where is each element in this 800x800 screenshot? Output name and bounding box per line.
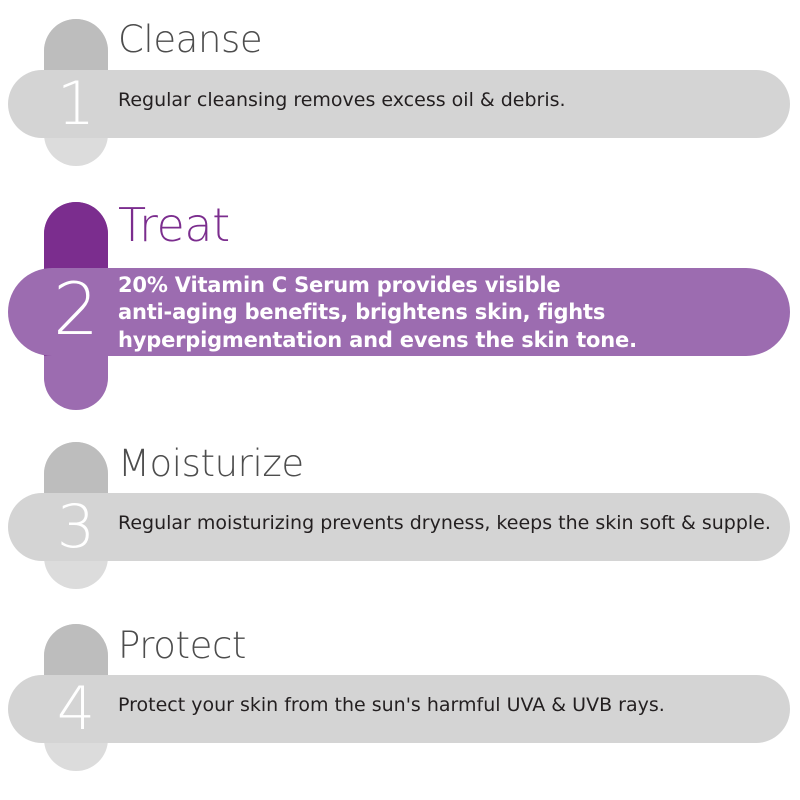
step-row-cleanse[interactable]: 1 Cleanse Regular cleansing removes exce… (0, 0, 800, 190)
step-title-protect: Protect (118, 624, 246, 667)
skincare-routine-infographic: 1 Cleanse Regular cleansing removes exce… (0, 0, 800, 800)
step-row-protect[interactable]: 4 Protect Protect your skin from the sun… (0, 612, 800, 797)
step-description-treat: 20% Vitamin C Serum provides visible ant… (118, 272, 776, 354)
step-number-pill-top-protect (44, 624, 108, 679)
step-number-moisturize: 3 (44, 497, 108, 557)
step-description-cleanse: Regular cleansing removes excess oil & d… (118, 88, 776, 112)
step-description-protect: Protect your skin from the sun's harmful… (118, 693, 776, 717)
step-number-cleanse: 1 (44, 74, 108, 134)
step-row-treat[interactable]: 2 Treat 20% Vitamin C Serum provides vis… (0, 190, 800, 430)
step-row-moisturize[interactable]: 3 Moisturize Regular moisturizing preven… (0, 430, 800, 615)
step-number-pill-top-cleanse (44, 19, 108, 74)
step-title-moisturize: Moisturize (118, 442, 304, 485)
step-title-cleanse: Cleanse (118, 18, 262, 61)
step-number-treat: 2 (44, 273, 108, 345)
step-number-protect: 4 (44, 679, 108, 739)
step-number-pill-top-moisturize (44, 442, 108, 497)
step-title-treat: Treat (118, 198, 230, 252)
step-number-pill-top-treat (44, 202, 108, 272)
step-description-moisturize: Regular moisturizing prevents dryness, k… (118, 511, 776, 535)
